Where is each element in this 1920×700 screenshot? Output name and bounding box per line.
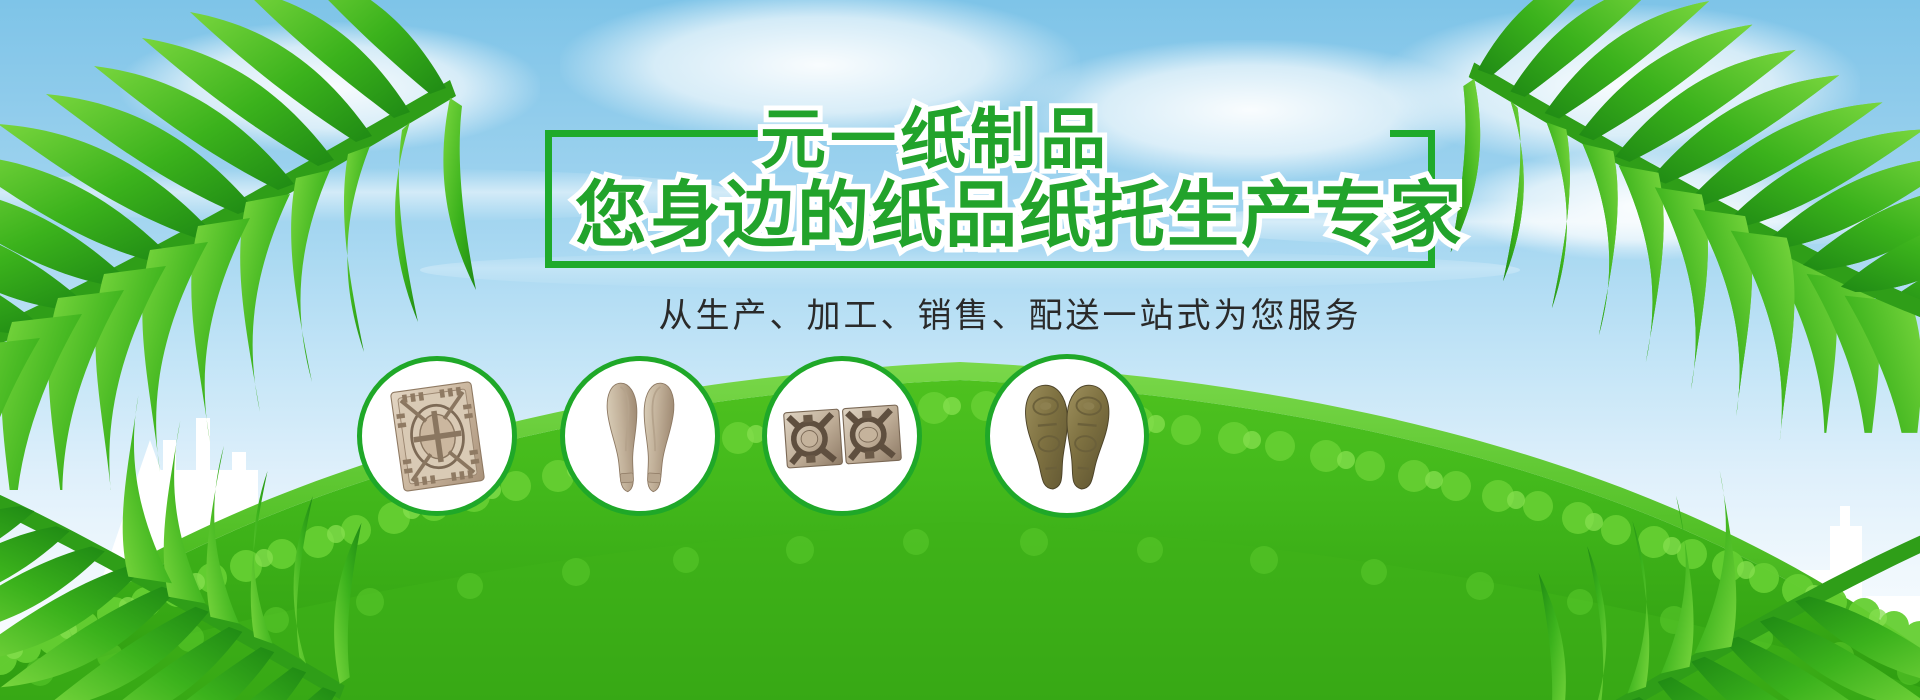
promotional-banner: 元一纸制品 您身边的纸品纸托生产专家 从生产、加工、销售、配送一站式为您服务 [0,0,1920,700]
product-circle-3[interactable] [762,356,922,516]
pulp-insole-icon [576,372,705,501]
product-circle-1[interactable] [357,356,517,516]
cloud-decoration [120,22,540,152]
product-circle-2[interactable] [560,356,720,516]
pulp-tray-icon [373,372,502,501]
product-circle-4[interactable] [985,354,1149,518]
frame-segment-left [545,130,552,268]
headline-tagline: 您身边的纸品纸托生产专家 [575,156,1463,261]
pulp-shoe-form-icon [1001,370,1133,502]
frame-segment-bottom [545,261,1435,268]
headline-block: 元一纸制品 您身边的纸品纸托生产专家 [545,108,1435,268]
headline-subtitle: 从生产、加工、销售、配送一站式为您服务 [600,288,1420,337]
pulp-tray-pair-icon [778,372,907,501]
